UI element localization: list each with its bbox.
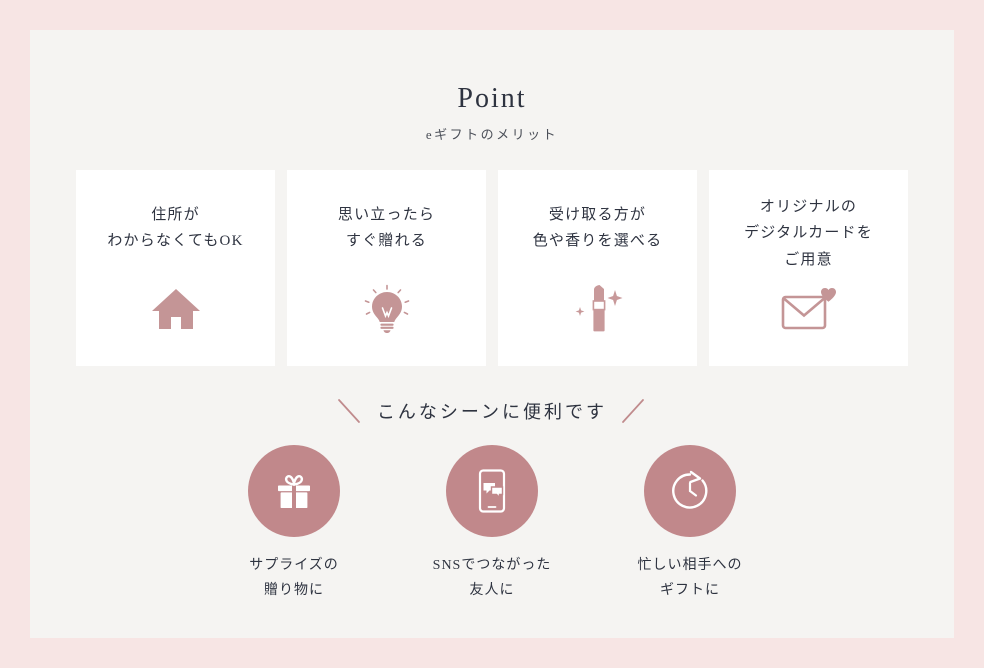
feature-card-instant[interactable]: 思い立ったら すぐ贈れる (287, 170, 486, 366)
page-subtitle: eギフトのメリット (30, 124, 954, 143)
clock-icon (669, 470, 711, 512)
scene-item-label: サプライズの 贈り物に (249, 553, 339, 603)
scene-item-busy[interactable]: 忙しい相手への ギフトに (630, 445, 750, 603)
feature-card-text: 思い立ったら すぐ贈れる (338, 202, 435, 255)
feature-card-address[interactable]: 住所が わからなくてもOK (76, 170, 275, 366)
scene-item-label: 忙しい相手への ギフトに (638, 553, 743, 603)
scene-item-surprise[interactable]: サプライズの 贈り物に (234, 445, 354, 603)
page-root: Point eギフトのメリット 住所が わからなくてもOK 思い立ったら すぐ贈… (0, 0, 984, 668)
page-title: Point (30, 82, 954, 116)
point-heading-block: Point eギフトのメリット (30, 82, 954, 143)
feature-card-text: オリジナルの デジタルカードを ご用意 (744, 194, 873, 273)
right-slash-icon (621, 398, 647, 424)
smartphone-chat-icon (474, 469, 510, 513)
scene-circle (446, 445, 538, 537)
lightbulb-icon (362, 286, 412, 332)
feature-card-text: 住所が わからなくてもOK (107, 202, 243, 255)
scene-item-sns[interactable]: SNSでつながった 友人に (432, 445, 552, 603)
scene-heading-block: こんなシーンに便利です (30, 398, 954, 424)
scene-heading-text: こんなシーンに便利です (377, 398, 607, 424)
scene-item-label: SNSでつながった 友人に (433, 553, 552, 603)
scene-circle (644, 445, 736, 537)
scene-circle (248, 445, 340, 537)
feature-cards-row: 住所が わからなくてもOK 思い立ったら すぐ贈れる (76, 170, 908, 366)
content-panel: Point eギフトのメリット 住所が わからなくてもOK 思い立ったら すぐ贈… (30, 30, 954, 638)
scene-items-row: サプライズの 贈り物に SNSでつながった 友人に (30, 445, 954, 603)
feature-card-digitalcard[interactable]: オリジナルの デジタルカードを ご用意 (709, 170, 908, 366)
house-icon (150, 286, 202, 332)
feature-card-text: 受け取る方が 色や香りを選べる (533, 202, 663, 255)
gift-icon (274, 471, 314, 511)
envelope-heart-icon (781, 286, 837, 332)
left-slash-icon (337, 398, 363, 424)
feature-card-choose[interactable]: 受け取る方が 色や香りを選べる (498, 170, 697, 366)
lipstick-icon (571, 286, 625, 332)
